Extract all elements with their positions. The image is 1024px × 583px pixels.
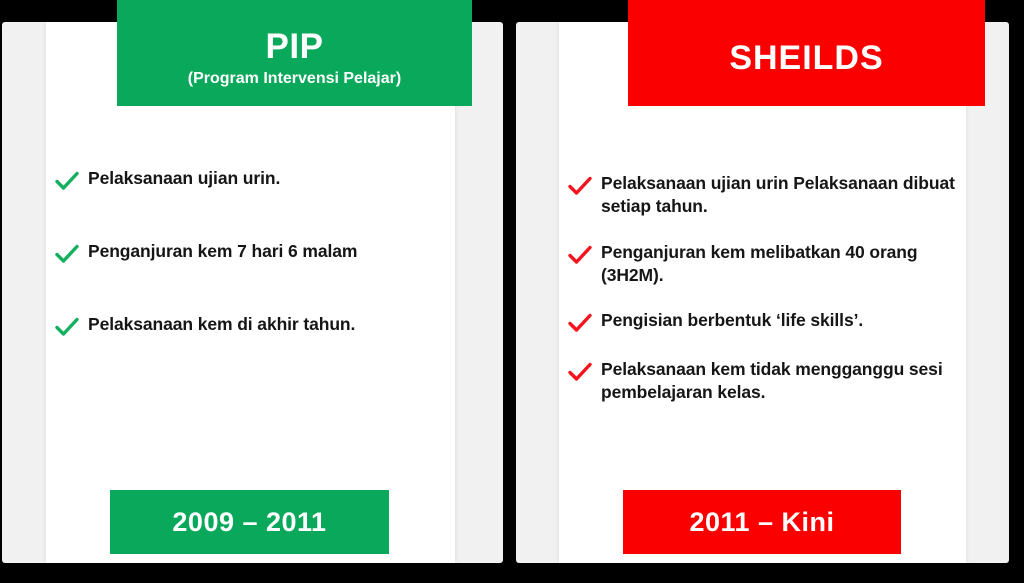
panel-sheilds: SHEILDS Pelaksanaan ujian urin Pelaksana… xyxy=(516,22,1009,563)
year-badge-sheilds[interactable]: 2011 – Kini xyxy=(623,490,901,554)
panel-title-pip: PIP xyxy=(266,29,324,66)
panel-pip: PIP (Program Intervensi Pelajar) Pelaksa… xyxy=(2,22,503,563)
list-item-label: Penganjuran kem 7 hari 6 malam xyxy=(88,240,357,263)
check-icon xyxy=(567,242,593,268)
list-item-label: Pengisian berbentuk ‘life skills’. xyxy=(601,309,863,332)
check-icon xyxy=(54,168,80,194)
feature-list-pip: Pelaksanaan ujian urin. Penganjuran kem … xyxy=(46,167,455,386)
list-item: Pelaksanaan kem di akhir tahun. xyxy=(54,313,441,340)
list-item: Pelaksanaan ujian urin. xyxy=(54,167,441,194)
check-icon xyxy=(54,241,80,267)
check-icon xyxy=(567,173,593,199)
card-pip: PIP (Program Intervensi Pelajar) Pelaksa… xyxy=(46,22,455,563)
check-icon xyxy=(567,359,593,385)
check-icon xyxy=(54,314,80,340)
check-icon xyxy=(567,310,593,336)
panel-subtitle-pip: (Program Intervensi Pelajar) xyxy=(188,70,401,88)
year-badge-pip[interactable]: 2009 – 2011 xyxy=(110,490,389,554)
slide-canvas: PIP (Program Intervensi Pelajar) Pelaksa… xyxy=(0,0,1024,583)
panel-title-sheilds: SHEILDS xyxy=(729,41,883,77)
list-item: Pelaksanaan kem tidak mengganggu sesi pe… xyxy=(567,358,960,405)
list-item-label: Pelaksanaan ujian urin. xyxy=(88,167,280,190)
feature-list-sheilds: Pelaksanaan ujian urin Pelaksanaan dibua… xyxy=(559,172,966,427)
list-item: Pelaksanaan ujian urin Pelaksanaan dibua… xyxy=(567,172,960,219)
list-item: Penganjuran kem 7 hari 6 malam xyxy=(54,240,441,267)
list-item: Penganjuran kem melibatkan 40 orang (3H2… xyxy=(567,241,960,288)
list-item: Pengisian berbentuk ‘life skills’. xyxy=(567,309,960,336)
list-item-label: Pelaksanaan kem tidak mengganggu sesi pe… xyxy=(601,358,960,405)
list-item-label: Pelaksanaan kem di akhir tahun. xyxy=(88,313,355,336)
list-item-label: Pelaksanaan ujian urin Pelaksanaan dibua… xyxy=(601,172,960,219)
card-sheilds: SHEILDS Pelaksanaan ujian urin Pelaksana… xyxy=(559,22,966,563)
header-banner-sheilds: SHEILDS xyxy=(628,0,985,106)
list-item-label: Penganjuran kem melibatkan 40 orang (3H2… xyxy=(601,241,960,288)
header-banner-pip: PIP (Program Intervensi Pelajar) xyxy=(117,0,472,106)
